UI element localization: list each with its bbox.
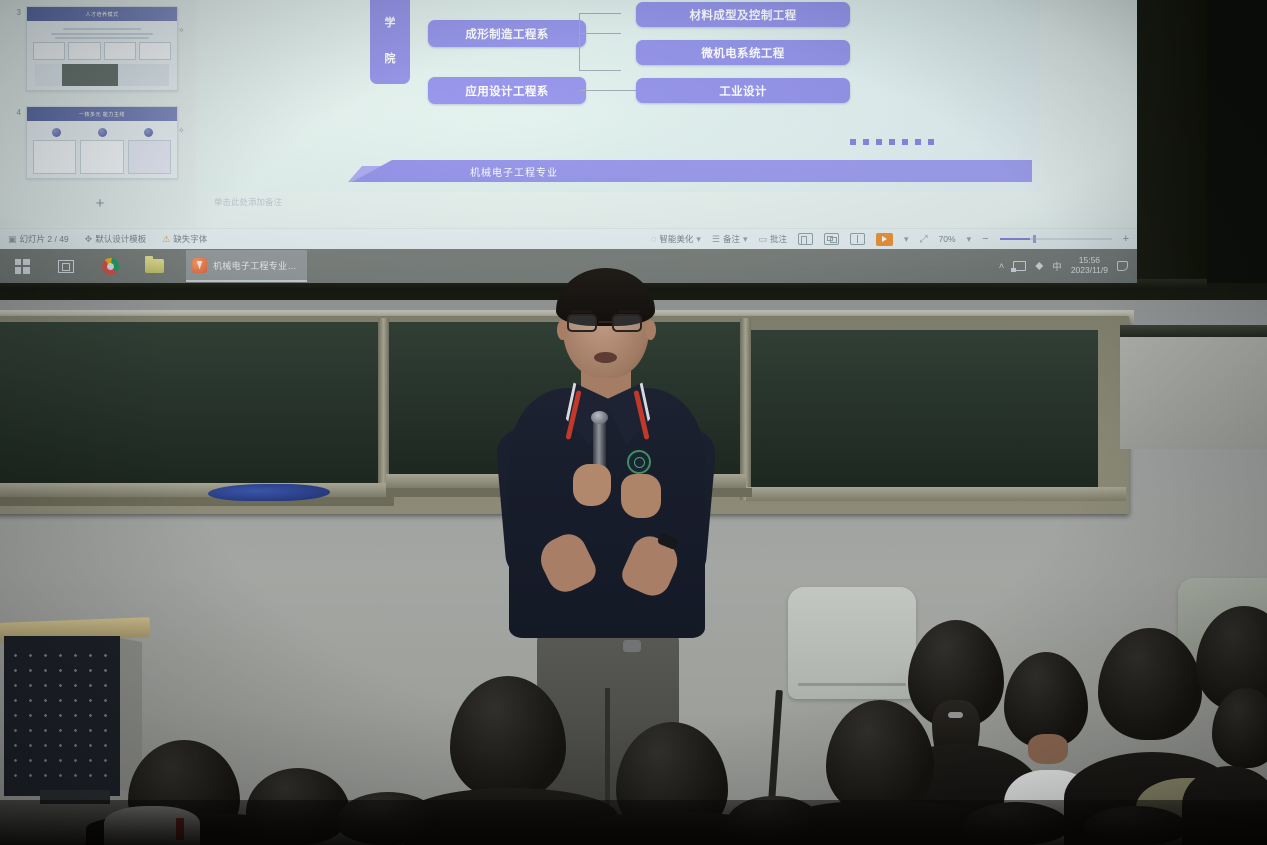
thumb-line xyxy=(55,37,149,39)
warning-icon: ⚠ xyxy=(162,234,170,245)
notes-placeholder[interactable]: 单击此处添加备注 xyxy=(200,196,700,216)
major-label: 材料成型及控制工程 xyxy=(689,7,796,23)
classroom-presentation-photo: 3 人才培养模式 xyxy=(0,0,1267,845)
comment-button-label: 批注 xyxy=(770,233,787,245)
screen-dark-edge xyxy=(1137,0,1207,289)
connector-line xyxy=(579,33,621,34)
decorative-dots xyxy=(850,139,934,145)
connector-line xyxy=(579,90,641,91)
blackboard-seam xyxy=(740,318,751,500)
thumb-column xyxy=(33,140,76,174)
decor-dot xyxy=(902,139,908,145)
thumb-photo xyxy=(35,64,169,86)
wps-presentation-window: 3 人才培养模式 xyxy=(0,0,1137,249)
blackboard-panel xyxy=(746,330,1098,490)
thumb-columns xyxy=(33,140,171,174)
task-view-icon[interactable] xyxy=(44,249,88,283)
wps-presentation-icon xyxy=(192,258,207,273)
thumb-bubble xyxy=(144,128,153,137)
presenter-eyebrow xyxy=(571,310,593,313)
file-explorer-icon[interactable] xyxy=(132,249,176,283)
thumbnail-body xyxy=(27,121,177,178)
department-label: 成形制造工程系 xyxy=(465,26,548,42)
add-slide-button[interactable]: + xyxy=(92,196,108,212)
fit-to-window-icon[interactable]: ⤢ xyxy=(920,234,928,245)
view-normal-icon[interactable] xyxy=(798,233,813,245)
wall-strip xyxy=(1120,325,1267,337)
thumb-cell xyxy=(68,42,100,60)
slide-number: 3 xyxy=(4,6,26,91)
slide-number: 4 xyxy=(4,106,26,179)
major-label: 微机电系统工程 xyxy=(701,45,784,61)
department-box[interactable]: 成形制造工程系 xyxy=(428,20,586,47)
presenter-eyebrow xyxy=(618,310,640,313)
presenter-right-hand xyxy=(621,474,661,518)
chrome-icon[interactable] xyxy=(88,249,132,283)
slide-thumbnail-pane[interactable]: 3 人才培养模式 xyxy=(0,0,196,226)
zoom-slider[interactable] xyxy=(1000,238,1112,240)
podium-speaker-grille xyxy=(8,648,114,778)
major-box[interactable]: 微机电系统工程 xyxy=(636,40,850,65)
chevron-down-icon[interactable]: ▾ xyxy=(743,234,748,245)
thumb-column xyxy=(128,140,171,174)
thumbnail-title-bar: 一核多元 能力主线 xyxy=(27,107,177,121)
thumb-column xyxy=(80,140,123,174)
department-label: 应用设计工程系 xyxy=(465,83,548,99)
comment-button[interactable]: ▭ 批注 xyxy=(759,233,788,245)
play-slideshow-icon[interactable] xyxy=(876,233,893,246)
missing-font-label: 缺失字体 xyxy=(173,233,207,245)
status-bar-right-group: ◌ 智能美化 ▾ ☰ 备注 ▾ ▭ 批注 xyxy=(651,233,1137,246)
thumb-bubbles xyxy=(33,128,171,137)
major-box[interactable]: 材料成型及控制工程 xyxy=(636,2,850,27)
chevron-down-icon[interactable]: ▾ xyxy=(967,234,972,245)
slide-icon: ▣ xyxy=(8,234,17,245)
blackboard-panel xyxy=(0,322,386,487)
smart-beautify-label: 智能美化 xyxy=(659,233,693,245)
projected-screen-image: 3 人才培养模式 xyxy=(0,0,1137,283)
notes-button-label: 备注 xyxy=(723,233,740,245)
microphone-head xyxy=(591,411,608,424)
presenter-left-hand xyxy=(573,464,611,506)
thumbnail-title-bar: 人才培养模式 xyxy=(27,7,177,21)
network-icon[interactable] xyxy=(1013,261,1026,271)
thumbnail-title: 一核多元 能力主线 xyxy=(79,111,125,118)
wall-panel xyxy=(1120,337,1267,449)
major-box[interactable]: 工业设计 xyxy=(636,78,850,103)
chalk-ledge-lower xyxy=(0,497,394,506)
slide-counter[interactable]: ▣ 幻灯片 2 / 49 xyxy=(8,233,69,245)
comment-icon: ▭ xyxy=(759,234,768,245)
thumb-bubble xyxy=(98,128,107,137)
presenter-torso xyxy=(509,388,705,638)
smart-beautify-button[interactable]: ◌ 智能美化 ▾ xyxy=(651,233,701,245)
connector-bracket xyxy=(579,13,621,71)
blackboard-cloth xyxy=(208,484,330,501)
major-label: 工业设计 xyxy=(719,83,767,99)
college-label-char: 院 xyxy=(385,54,396,66)
thumb-line xyxy=(63,28,141,30)
beautify-icon: ◌ xyxy=(651,234,656,244)
decor-dot xyxy=(889,139,895,145)
presenter-mouth xyxy=(594,352,617,363)
thumb-table xyxy=(33,42,171,60)
thumb-cell xyxy=(139,42,171,60)
thumbnail-title: 人才培养模式 xyxy=(85,11,118,18)
thumbnail-preview[interactable]: 一核多元 能力主线 xyxy=(26,106,178,179)
taskbar-window-title: 机械电子工程专业… xyxy=(213,259,297,272)
system-tray: ˄ 中 15:56 2023/11/9 xyxy=(999,256,1137,276)
taskbar-clock[interactable]: 15:56 2023/11/9 xyxy=(1071,256,1108,276)
department-box[interactable]: 应用设计工程系 xyxy=(428,77,586,104)
presenter-ear xyxy=(645,320,656,340)
presenter-glasses-lens xyxy=(612,314,642,332)
ime-mode-label[interactable]: 中 xyxy=(1052,259,1062,273)
notes-toggle-button[interactable]: ☰ 备注 ▾ xyxy=(712,233,748,245)
thumbnail-preview[interactable]: 人才培养模式 xyxy=(26,6,178,91)
slide-footer-banner: 机械电子工程专业 xyxy=(352,160,1032,182)
footer-label: 机械电子工程专业 xyxy=(470,164,558,179)
presenter-chest-logo xyxy=(627,450,651,474)
foreground-shadow xyxy=(0,800,1267,845)
college-label-char: 学 xyxy=(385,18,396,30)
thumb-line xyxy=(51,33,153,35)
decor-dot xyxy=(863,139,869,145)
template-icon: ✥ xyxy=(85,234,93,245)
missing-font-warning[interactable]: ⚠ 缺失字体 xyxy=(162,233,207,245)
ime-pinyin-icon[interactable] xyxy=(1035,262,1043,270)
chevron-down-icon[interactable]: ▾ xyxy=(696,234,701,245)
view-slide-sorter-icon[interactable] xyxy=(824,233,839,245)
slide-editing-canvas[interactable]: 程 学 院 成形制造工程系 应用设计工程系 材料成型及控制工程 微机电系统工 xyxy=(200,0,1040,192)
status-bar: ▣ 幻灯片 2 / 49 ✥ 默认设计模板 ⚠ 缺失字体 ◌ 智能美化 xyxy=(0,228,1137,249)
zoom-out-button[interactable]: − xyxy=(982,233,988,245)
transition-icon[interactable]: ✧ xyxy=(178,6,200,91)
college-vertical-label: 程 学 院 xyxy=(370,0,410,84)
windows-start-icon[interactable] xyxy=(0,249,44,283)
presenter-pocket-logo xyxy=(623,640,641,652)
transition-icon[interactable]: ✧ xyxy=(178,106,200,179)
slide-thumbnail-item[interactable]: 3 人才培养模式 xyxy=(4,6,200,91)
blackboard-seam xyxy=(378,318,389,500)
zoom-level-label: 70% xyxy=(939,234,956,244)
design-template-label: 默认设计模板 xyxy=(95,233,146,245)
chalk-ledge xyxy=(746,487,1126,501)
chevron-up-icon[interactable]: ˄ xyxy=(999,261,1005,272)
thumb-cell xyxy=(33,42,65,60)
decor-dot xyxy=(928,139,934,145)
presenter-glasses-bridge xyxy=(599,321,612,323)
notifications-icon[interactable] xyxy=(1117,261,1128,271)
clock-date: 2023/11/9 xyxy=(1071,266,1108,276)
slide-thumbnail-item[interactable]: 4 一核多元 能力主线 xyxy=(4,106,200,179)
notes-icon: ☰ xyxy=(712,234,720,245)
decor-dot xyxy=(915,139,921,145)
thumb-bubble xyxy=(52,128,61,137)
zoom-in-button[interactable]: + xyxy=(1123,233,1129,245)
decor-dot xyxy=(850,139,856,145)
view-reading-icon[interactable] xyxy=(850,233,865,245)
decor-dot xyxy=(876,139,882,145)
chevron-down-icon[interactable]: ▾ xyxy=(904,234,909,245)
thumbnail-body xyxy=(27,21,177,90)
thumb-cell xyxy=(104,42,136,60)
presenter-glasses-lens xyxy=(567,314,597,332)
taskbar-active-window[interactable]: 机械电子工程专业… xyxy=(186,250,307,282)
design-template-button[interactable]: ✥ 默认设计模板 xyxy=(85,233,147,245)
slide-counter-label: 幻灯片 2 / 49 xyxy=(20,233,69,245)
